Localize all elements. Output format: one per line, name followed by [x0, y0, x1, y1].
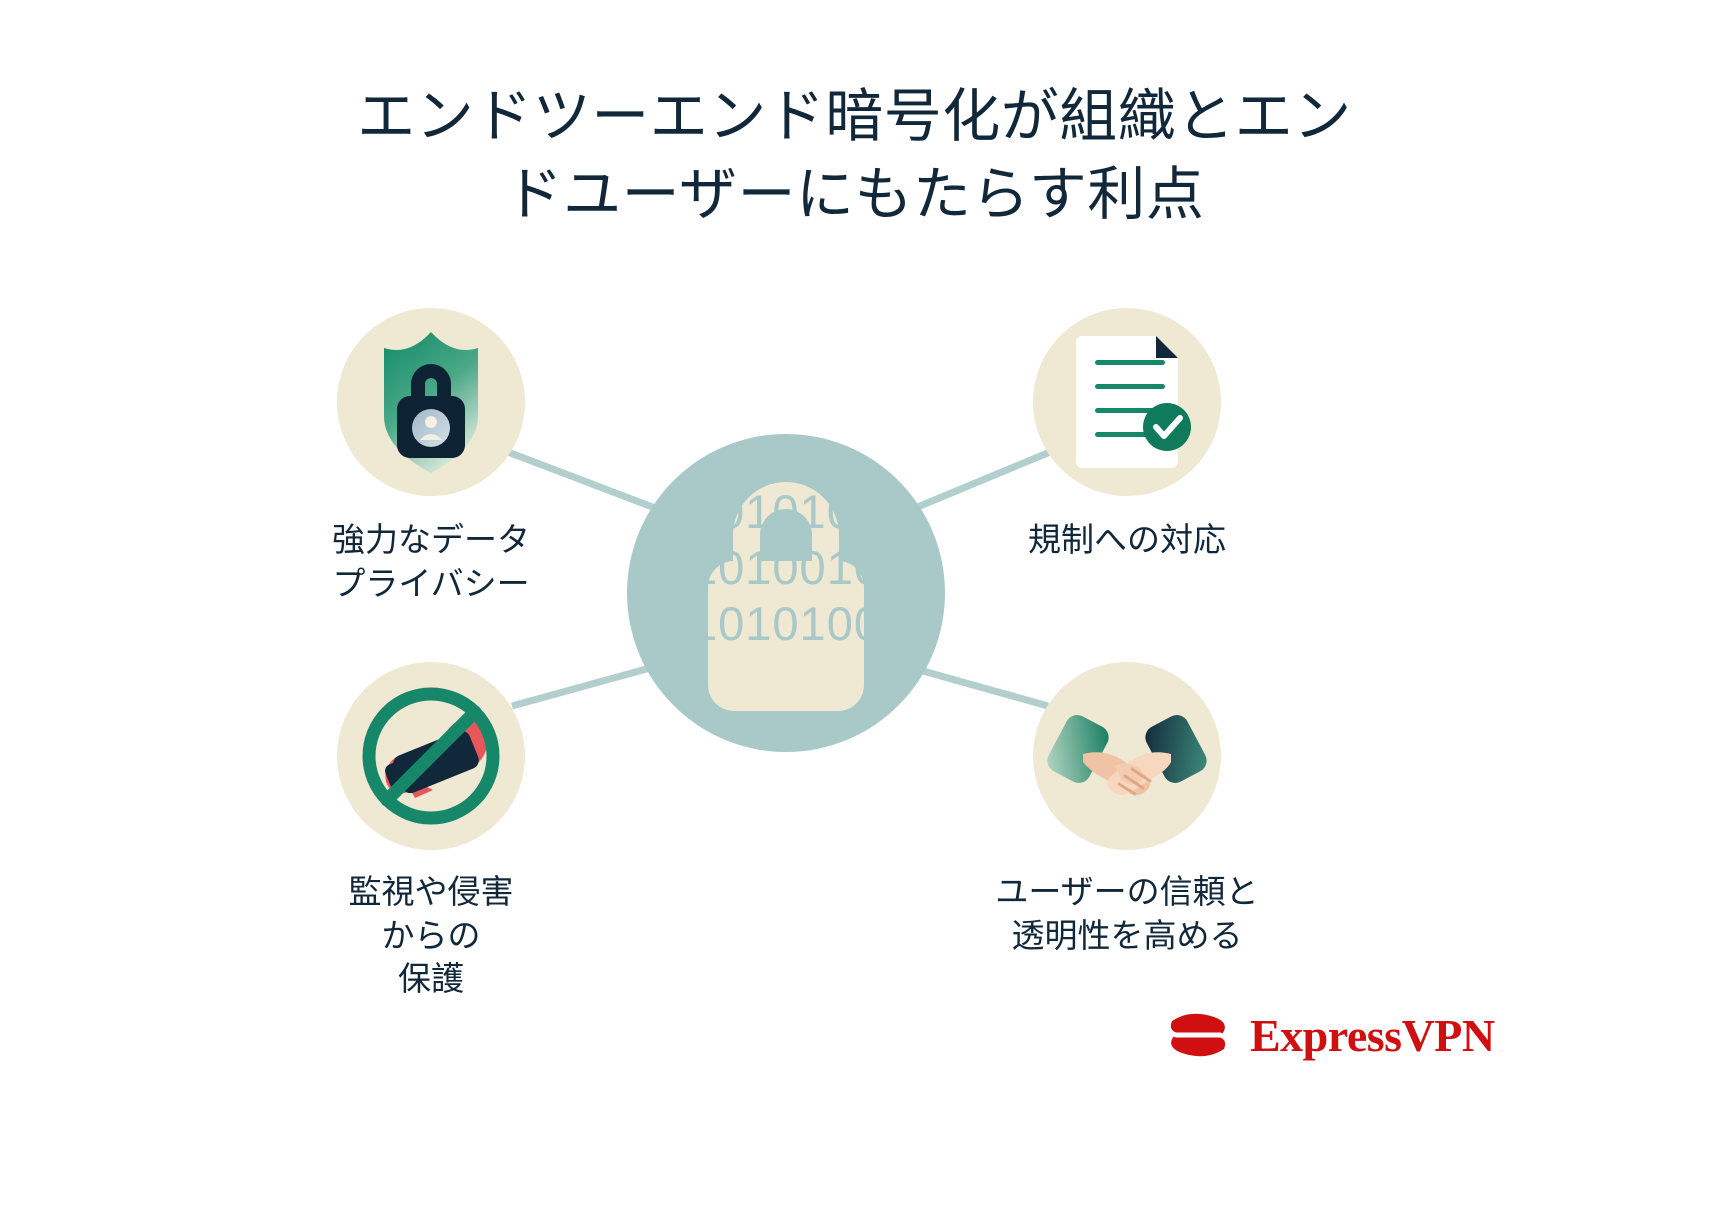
- document-check-icon: [1033, 308, 1221, 496]
- no-surveillance-camera-icon: [337, 662, 525, 850]
- expressvpn-logo-icon: [1162, 1005, 1236, 1065]
- node-surveillance[interactable]: 監視や侵害 からの 保護: [337, 662, 525, 1001]
- node-trust-circle: [1033, 662, 1221, 850]
- node-compliance-label: 規制への対応: [977, 518, 1277, 562]
- shield-lock-user-icon: [337, 308, 525, 496]
- node-trust[interactable]: ユーザーの信頼と 透明性を高める: [1033, 662, 1221, 957]
- page-title-line-2: ドユーザーにもたらす利点: [0, 156, 1709, 234]
- node-compliance[interactable]: 規制への対応: [1033, 308, 1221, 562]
- central-hub: 1010100 1010010 1010100: [627, 434, 945, 752]
- expressvpn-logo-text: ExpressVPN: [1250, 1009, 1495, 1062]
- node-privacy-circle: [337, 308, 525, 496]
- node-surveillance-circle: [337, 662, 525, 850]
- padlock-binary-icon: [636, 443, 936, 743]
- handshake-icon: [1033, 662, 1221, 850]
- node-privacy-label: 強力なデータ プライバシー: [281, 518, 581, 605]
- node-privacy[interactable]: 強力なデータ プライバシー: [337, 308, 525, 605]
- node-compliance-circle: [1033, 308, 1221, 496]
- expressvpn-logo[interactable]: ExpressVPN: [1162, 1005, 1495, 1065]
- node-surveillance-label: 監視や侵害 からの 保護: [281, 870, 581, 1001]
- node-trust-label: ユーザーの信頼と 透明性を高める: [967, 870, 1287, 957]
- page-title: エンドツーエンド暗号化が組織とエン ドユーザーにもたらす利点: [0, 78, 1709, 235]
- page-title-line-1: エンドツーエンド暗号化が組織とエン: [0, 78, 1709, 156]
- infographic-canvas: エンドツーエンド暗号化が組織とエン ドユーザーにもたらす利点 1010100 1…: [0, 0, 1709, 1226]
